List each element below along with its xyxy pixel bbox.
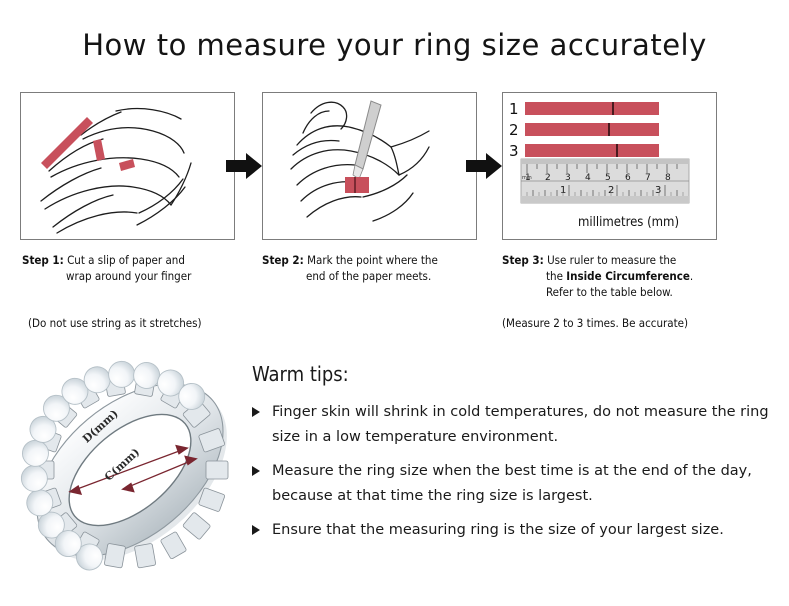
arrow-step2-to-step3-icon	[464, 150, 504, 182]
ring-size-guide-page: How to measure your ring size accurately	[0, 0, 789, 606]
ruler-cm-4: 4	[585, 173, 591, 183]
millimetres-caption: millimetres (mm)	[578, 215, 679, 230]
warm-tip-text: Ensure that the measuring ring is the si…	[272, 522, 724, 538]
hand-with-pen-marking-icon	[263, 93, 475, 238]
marked-paper-strip-shape	[345, 177, 369, 193]
step-3-illustration-panel: 1 2 3	[502, 92, 717, 240]
ruler-mm-mark: mm	[522, 175, 532, 181]
step-1-note: (Do not use string as it stretches)	[28, 316, 202, 330]
ruler-cm-3: 3	[565, 173, 571, 183]
step-3-caption: Step 3: Use ruler to measure the the Ins…	[502, 252, 752, 300]
step-3-line2: the Inside Circumference.	[502, 268, 752, 284]
hand-with-paper-strip-icon	[21, 93, 233, 238]
step-3-lead: Step 3:	[502, 253, 544, 267]
step-2-lead: Step 2:	[262, 253, 304, 267]
ruler-cm-2: 2	[545, 173, 551, 183]
strip-label-3: 3	[509, 142, 519, 160]
step-2-line1: Mark the point where the	[307, 253, 438, 267]
ruler-cm-5: 5	[605, 173, 611, 183]
ruler-cm-7: 7	[645, 173, 651, 183]
page-title: How to measure your ring size accurately	[0, 28, 789, 62]
step-1-line2: wrap around your finger	[22, 268, 252, 284]
arrow-step1-to-step2-icon	[224, 150, 264, 182]
ruler-cm-6: 6	[625, 173, 631, 183]
step-1-lead: Step 1:	[22, 253, 64, 267]
triangle-bullet-icon	[252, 466, 260, 476]
step-2-line2: end of the paper meets.	[262, 268, 497, 284]
step-1-line1: Cut a slip of paper and	[67, 253, 185, 267]
ruler-shape: 1 2 3 4 5 6 7 8 mm 1 2 3	[521, 159, 689, 203]
inside-circumference-emphasis: Inside Circumference	[566, 269, 690, 283]
step-2-caption: Step 2: Mark the point where the end of …	[262, 252, 497, 284]
ruler-cm-8: 8	[665, 173, 671, 183]
strips-over-ruler-icon: 1 2 3	[503, 93, 715, 238]
warm-tip-item: Measure the ring size when the best time…	[252, 459, 772, 509]
warm-tips-section: Warm tips: Finger skin will shrink in co…	[252, 362, 772, 552]
warm-tip-item: Ensure that the measuring ring is the si…	[252, 518, 772, 543]
step-3-line1: Use ruler to measure the	[547, 253, 676, 267]
strip-label-2: 2	[509, 121, 519, 139]
steps-illustration-row: 1 2 3	[0, 92, 789, 242]
step-1-caption: Step 1: Cut a slip of paper and wrap aro…	[22, 252, 252, 284]
step-3-line2-post: .	[690, 269, 693, 283]
warm-tips-heading: Warm tips:	[252, 362, 772, 386]
step-3-line2-pre: the	[546, 269, 566, 283]
pen-shape	[353, 101, 381, 179]
eternity-ring-illustration: D(mm) C(mm)	[18, 358, 253, 583]
step-3-line3: Refer to the table below.	[502, 284, 752, 300]
warm-tip-text: Finger skin will shrink in cold temperat…	[272, 404, 769, 445]
triangle-bullet-icon	[252, 525, 260, 535]
step-3-note: (Measure 2 to 3 times. Be accurate)	[502, 316, 688, 330]
warm-tip-text: Measure the ring size when the best time…	[272, 463, 752, 504]
step-1-illustration-panel	[20, 92, 235, 240]
warm-tip-item: Finger skin will shrink in cold temperat…	[252, 400, 772, 450]
triangle-bullet-icon	[252, 407, 260, 417]
strip-label-1: 1	[509, 100, 519, 118]
ruler-inch-3: 3	[655, 185, 661, 196]
step-2-illustration-panel	[262, 92, 477, 240]
